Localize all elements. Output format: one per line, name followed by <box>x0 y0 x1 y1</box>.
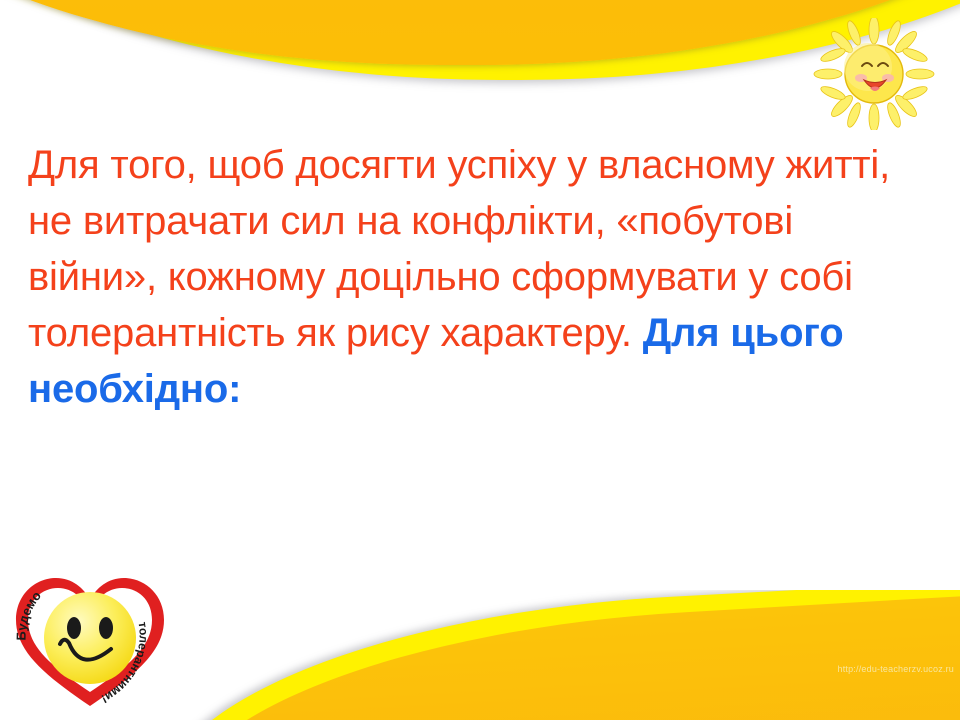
bottom-yellow-wave <box>150 590 960 720</box>
yellow-smiley-face-icon <box>44 592 136 684</box>
slide-canvas: Для того, щоб досягти успіху у власному … <box>0 0 960 720</box>
slide-body-text: Для того, щоб досягти успіху у власному … <box>28 137 928 417</box>
smiling-sun-icon <box>812 18 937 130</box>
tolerance-heart-logo: Будемо толерантними! <box>6 552 174 720</box>
bottom-orange-wave <box>168 590 960 720</box>
footer-url: http://edu-teacherzv.ucoz.ru <box>838 664 955 674</box>
